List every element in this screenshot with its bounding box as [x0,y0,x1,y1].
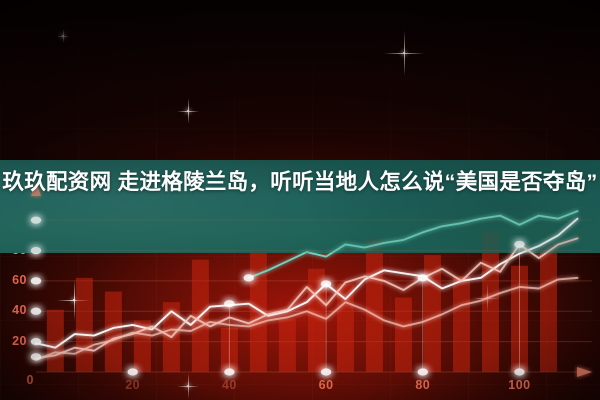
data-marker [224,300,234,307]
data-marker [321,280,331,287]
bar [482,232,499,253]
bar [279,319,296,372]
bar [250,251,267,372]
x-axis-arrow-icon [577,367,592,377]
data-marker [31,353,41,360]
bar [76,278,93,372]
data-marker [418,368,428,375]
bar [395,298,412,372]
data-marker [31,308,41,315]
chart-bars [47,232,557,372]
data-marker [418,274,428,281]
bar [105,292,122,372]
chart-gridlines [36,220,592,253]
bar [366,238,383,372]
data-marker [31,247,41,253]
data-marker [31,217,41,224]
bar [337,284,354,372]
data-marker [127,368,137,375]
data-marker [244,274,254,281]
bar [453,276,470,372]
bar [482,232,499,372]
data-marker [514,368,524,375]
chart-markers [31,217,525,253]
series-line-series-teal [249,211,578,253]
headline-text: 玖玖配资网 走进格陵兰岛，听听当地人怎么说“美国是否夺岛” [0,165,600,199]
bar [540,244,557,372]
chart-bars [47,232,557,253]
data-marker [514,241,524,248]
bar [47,310,64,372]
data-marker [224,368,234,375]
data-marker [321,368,331,375]
data-marker [31,338,41,345]
data-marker [31,277,41,284]
image-canvas: 20406080100020406080100 玖玖配资网 走进格陵兰岛，听听当… [0,0,600,400]
bar [250,251,267,253]
